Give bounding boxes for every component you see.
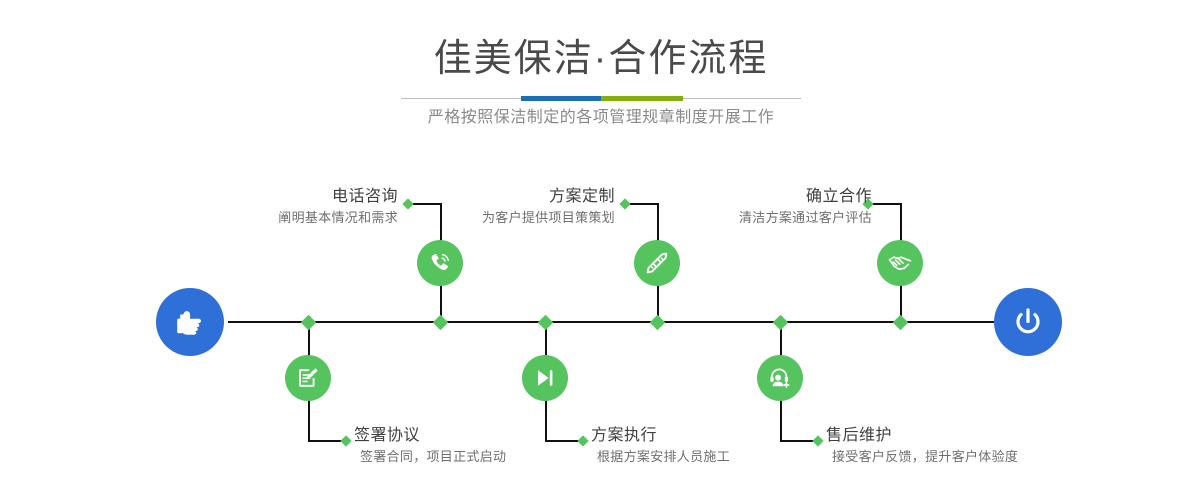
step-6-icon-node[interactable] [757,355,803,401]
step-2-desc: 签署合同，项目正式启动 [354,447,506,467]
timeline: 电话咨询 阐明基本情况和需求 [0,0,1202,502]
step-2-title: 签署协议 [354,425,506,447]
step-6-label-marker [812,435,823,446]
step-1-label: 电话咨询 阐明基本情况和需求 [278,186,398,228]
step-4-connector-horizontal [545,440,581,442]
step-3-title: 方案定制 [482,186,615,208]
timeline-main-line [228,321,994,323]
pencil-ruler-icon [644,250,670,276]
step-5-icon-node[interactable] [877,240,923,286]
timeline-marker-3 [650,315,666,331]
document-edit-icon [295,365,321,391]
step-1-title: 电话咨询 [278,186,398,208]
step-6-label: 售后维护 接受客户反馈，提升客户体验度 [826,425,1018,467]
handshake-icon [887,250,913,276]
step-5-desc: 清洁方案通过客户评估 [739,208,872,228]
timeline-end-node[interactable] [994,288,1062,356]
play-execute-icon [532,365,558,391]
step-1-desc: 阐明基本情况和需求 [278,208,398,228]
step-3-label: 方案定制 为客户提供项目策策划 [482,186,615,228]
step-3-desc: 为客户提供项目策策划 [482,208,615,228]
step-2-label: 签署协议 签署合同，项目正式启动 [354,425,506,467]
step-2-icon-node[interactable] [285,355,331,401]
step-5-label: 确立合作 清洁方案通过客户评估 [739,186,872,228]
step-4-icon-node[interactable] [522,355,568,401]
step-2-connector-horizontal [308,440,344,442]
step-5-title: 确立合作 [739,186,872,208]
step-4-label-marker [577,435,588,446]
step-4-title: 方案执行 [591,425,730,447]
step-1-connector-horizontal [410,203,442,205]
process-flow-infographic: 佳美保洁·合作流程 严格按照保洁制定的各项管理规章制度开展工作 [0,0,1202,502]
customer-service-icon [767,365,793,391]
step-6-connector-horizontal [780,440,816,442]
phone-call-icon [427,250,453,276]
timeline-marker-5 [893,315,909,331]
timeline-marker-2 [301,315,317,331]
power-button-icon [1009,303,1047,341]
step-5-connector-horizontal [870,203,902,205]
step-4-label: 方案执行 根据方案安排人员施工 [591,425,730,467]
timeline-start-node[interactable] [156,288,224,356]
step-3-label-marker [619,198,630,209]
pointing-hand-icon [171,303,209,341]
timeline-marker-6 [773,315,789,331]
step-1-label-marker [402,198,413,209]
step-3-connector-horizontal [627,203,659,205]
step-3-icon-node[interactable] [634,240,680,286]
timeline-marker-1 [433,315,449,331]
step-2-label-marker [340,435,351,446]
step-6-desc: 接受客户反馈，提升客户体验度 [826,447,1018,467]
step-4-desc: 根据方案安排人员施工 [591,447,730,467]
timeline-marker-4 [538,315,554,331]
step-1-icon-node[interactable] [417,240,463,286]
step-6-title: 售后维护 [826,425,1018,447]
